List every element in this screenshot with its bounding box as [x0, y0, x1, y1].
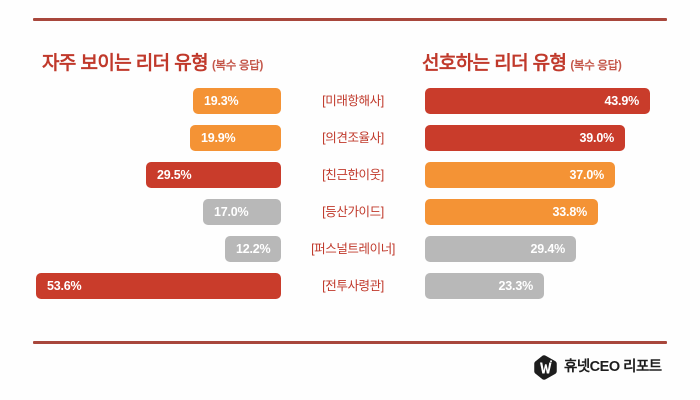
bottom-divider: [33, 341, 667, 344]
hexagon-h-icon: [534, 355, 557, 380]
left-bar-slot: 53.6%: [36, 273, 281, 299]
left-bar-slot: 12.2%: [225, 236, 281, 262]
right-chart-title-main: 선호하는 리더 유형: [422, 53, 566, 74]
left-bar-value: 19.9%: [201, 132, 235, 145]
left-bar-value: 12.2%: [236, 243, 270, 256]
brand-logo-text: 휴넷CEO 리포트: [564, 360, 662, 375]
chart-row: 19.3%[미래항해사]43.9%: [0, 88, 700, 114]
left-bar[interactable]: 53.6%: [36, 273, 281, 299]
left-bar-value: 29.5%: [157, 169, 191, 182]
left-bar-value: 19.3%: [204, 95, 238, 108]
right-bar-value: 37.0%: [570, 169, 604, 182]
left-bar-slot: 19.9%: [190, 125, 281, 151]
right-chart-title: 선호하는 리더 유형(복수 응답): [422, 48, 621, 75]
right-bar-slot: 37.0%: [425, 162, 615, 188]
right-bar[interactable]: 33.8%: [425, 199, 598, 225]
right-bar-value: 39.0%: [580, 132, 614, 145]
right-bar-slot: 43.9%: [425, 88, 650, 114]
chart-row: 19.9%[의견조율사]39.0%: [0, 125, 700, 151]
right-bar-slot: 39.0%: [425, 125, 625, 151]
chart-row: 12.2%[퍼스널트레이너]29.4%: [0, 236, 700, 262]
top-divider: [33, 18, 667, 21]
chart-row: 29.5%[친근한이웃]37.0%: [0, 162, 700, 188]
right-bar[interactable]: 43.9%: [425, 88, 650, 114]
category-label: [등산가이드]: [281, 199, 425, 225]
right-bar-slot: 29.4%: [425, 236, 576, 262]
right-bar[interactable]: 29.4%: [425, 236, 576, 262]
right-bar-value: 23.3%: [499, 280, 533, 293]
brand-logo: 휴넷CEO 리포트: [534, 353, 662, 381]
right-bar[interactable]: 23.3%: [425, 273, 544, 299]
left-bar[interactable]: 29.5%: [146, 162, 281, 188]
left-bar[interactable]: 12.2%: [225, 236, 281, 262]
left-bar[interactable]: 17.0%: [203, 199, 281, 225]
left-bar-slot: 19.3%: [193, 88, 281, 114]
category-label: [의견조율사]: [281, 125, 425, 151]
left-bar-value: 53.6%: [47, 280, 81, 293]
left-chart-title-main: 자주 보이는 리더 유형: [42, 53, 208, 74]
left-bar-value: 17.0%: [214, 206, 248, 219]
right-bar-value: 43.9%: [605, 95, 639, 108]
chart-titles: 자주 보이는 리더 유형(복수 응답) 선호하는 리더 유형(복수 응답): [0, 46, 700, 76]
category-label: [퍼스널트레이너]: [281, 236, 425, 262]
left-bar[interactable]: 19.9%: [190, 125, 281, 151]
category-label: [미래항해사]: [281, 88, 425, 114]
infographic-page: 자주 보이는 리더 유형(복수 응답) 선호하는 리더 유형(복수 응답) 19…: [0, 0, 700, 400]
left-bar-slot: 29.5%: [146, 162, 281, 188]
right-bar[interactable]: 37.0%: [425, 162, 615, 188]
right-bar-slot: 23.3%: [425, 273, 544, 299]
left-chart-title: 자주 보이는 리더 유형(복수 응답): [42, 48, 263, 75]
left-bar[interactable]: 19.3%: [193, 88, 281, 114]
charts-area: 19.3%[미래항해사]43.9%19.9%[의견조율사]39.0%29.5%[…: [0, 88, 700, 320]
right-bar-value: 29.4%: [531, 243, 565, 256]
category-label: [전투사령관]: [281, 273, 425, 299]
left-chart-title-sub: (복수 응답): [212, 60, 263, 72]
chart-row: 17.0%[등산가이드]33.8%: [0, 199, 700, 225]
right-bar[interactable]: 39.0%: [425, 125, 625, 151]
right-chart-title-sub: (복수 응답): [570, 60, 621, 72]
right-bar-slot: 33.8%: [425, 199, 598, 225]
right-bar-value: 33.8%: [553, 206, 587, 219]
left-bar-slot: 17.0%: [203, 199, 281, 225]
category-label: [친근한이웃]: [281, 162, 425, 188]
chart-row: 53.6%[전투사령관]23.3%: [0, 273, 700, 299]
